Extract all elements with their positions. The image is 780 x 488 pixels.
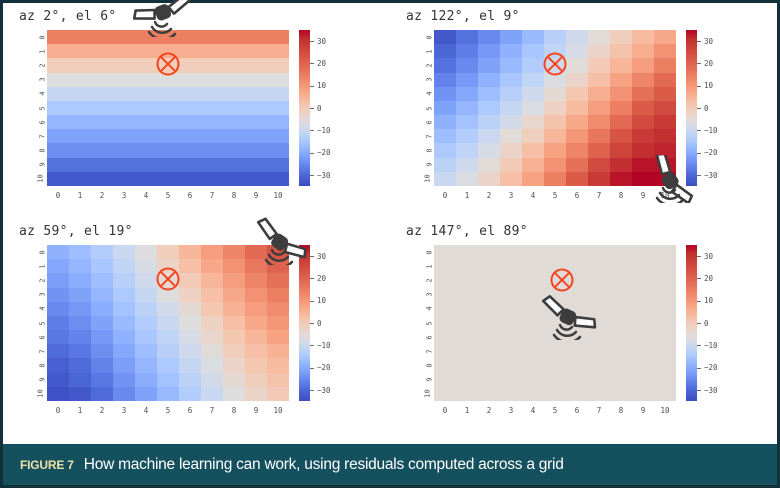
heatmap-cell (91, 30, 113, 44)
heatmap-cell (47, 143, 69, 157)
heatmap-cell (91, 373, 113, 387)
x-tick-label: 2 (478, 404, 500, 417)
y-tick-label: 10 (31, 387, 45, 401)
heatmap-cell (434, 316, 456, 330)
heatmap-cell (245, 344, 267, 358)
x-tick-label: 0 (47, 189, 69, 202)
heatmap-cell (654, 44, 676, 58)
y-axis-ticks: 012345678910 (31, 245, 45, 401)
panel-title: az 147°, el 89° (406, 224, 528, 239)
heatmap-cell (91, 259, 113, 273)
heatmap-cell (500, 373, 522, 387)
heatmap-cell (47, 58, 69, 72)
heatmap-cell (566, 87, 588, 101)
heatmap-cell (223, 101, 245, 115)
heatmap-cell (179, 302, 201, 316)
y-tick-label: 5 (418, 101, 432, 115)
heatmap-cell (179, 44, 201, 58)
heatmap-cell (500, 58, 522, 72)
heatmap-cell (478, 73, 500, 87)
heatmap-cell (179, 245, 201, 259)
x-tick-label: 8 (223, 189, 245, 202)
x-tick-label: 10 (654, 189, 676, 202)
heatmap-cell (434, 387, 456, 401)
heatmap-cell (522, 358, 544, 372)
heatmap-cell (47, 273, 69, 287)
heatmap-cell (69, 115, 91, 129)
x-tick-label: 4 (522, 404, 544, 417)
heatmap-cell (201, 101, 223, 115)
x-tick-label: 6 (566, 189, 588, 202)
heatmap-cell (69, 30, 91, 44)
heatmap-cell (157, 129, 179, 143)
y-tick-label: 7 (418, 129, 432, 143)
heatmap-cell (245, 129, 267, 143)
heatmap-cell (654, 58, 676, 72)
x-axis-ticks: 012345678910 (434, 189, 676, 202)
heatmap-cell (632, 101, 654, 115)
y-tick-label: 5 (31, 316, 45, 330)
heatmap-cell (223, 259, 245, 273)
heatmap-cell (47, 288, 69, 302)
heatmap-cell (478, 373, 500, 387)
heatmap-cell (201, 273, 223, 287)
heatmap-cell (588, 316, 610, 330)
heatmap-cell (478, 245, 500, 259)
heatmap-cell (113, 143, 135, 157)
heatmap-cell (157, 87, 179, 101)
heatmap-cell (478, 259, 500, 273)
heatmap-cell (544, 288, 566, 302)
heatmap-cell (654, 143, 676, 157)
heatmap-cell (91, 245, 113, 259)
heatmap-cell (91, 101, 113, 115)
x-tick-label: 8 (223, 404, 245, 417)
y-tick-label: 1 (418, 44, 432, 58)
heatmap-cell (69, 373, 91, 387)
heatmap-cell (135, 245, 157, 259)
y-tick-label: 8 (31, 144, 45, 158)
heatmap-cell (522, 73, 544, 87)
x-tick-label: 6 (179, 404, 201, 417)
heatmap-cell (157, 30, 179, 44)
heatmap-cell (588, 44, 610, 58)
heatmap-cell (610, 172, 632, 186)
heatmap-cell (223, 58, 245, 72)
heatmap-cell (179, 387, 201, 401)
heatmap-cell (588, 129, 610, 143)
heatmap-cell (566, 115, 588, 129)
x-tick-label: 1 (69, 189, 91, 202)
heatmap-cell (157, 358, 179, 372)
heatmap-cell (223, 344, 245, 358)
heatmap-cell (544, 30, 566, 44)
heatmap-cell (267, 302, 289, 316)
y-tick-label: 4 (31, 302, 45, 316)
heatmap-cell (500, 129, 522, 143)
heatmap-cell (69, 44, 91, 58)
heatmap-cell (544, 87, 566, 101)
heatmap-cell (267, 330, 289, 344)
heatmap-cell (434, 87, 456, 101)
heatmap-cell (245, 358, 267, 372)
heatmap-cell (267, 30, 289, 44)
x-tick-label: 6 (566, 404, 588, 417)
heatmap-cell (245, 316, 267, 330)
heatmap-cell (47, 115, 69, 129)
heatmap-cell (522, 344, 544, 358)
heatmap-cell (566, 172, 588, 186)
heatmap-cell (478, 129, 500, 143)
heatmap-cell (566, 288, 588, 302)
heatmap-cell (179, 344, 201, 358)
heatmap-cell (267, 373, 289, 387)
colorbar-tick: 10 (310, 301, 326, 302)
heatmap-cell (654, 316, 676, 330)
heatmap-cell (478, 387, 500, 401)
heatmap-cell (201, 387, 223, 401)
y-tick-label: 0 (418, 245, 432, 259)
heatmap-cell (456, 358, 478, 372)
heatmap-cell (522, 387, 544, 401)
heatmap-cell (588, 115, 610, 129)
heatmap-cell (456, 273, 478, 287)
heatmap-cell (610, 58, 632, 72)
heatmap-cells (434, 245, 676, 401)
heatmap-cell (91, 143, 113, 157)
heatmap-cell (456, 158, 478, 172)
heatmap-cell (113, 115, 135, 129)
heatmap-cell (179, 87, 201, 101)
x-tick-label: 1 (69, 404, 91, 417)
colorbar: 3020100−10−20−30 (686, 245, 746, 401)
heatmap-cell (544, 172, 566, 186)
heatmap-cell (201, 302, 223, 316)
heatmap-cell (566, 358, 588, 372)
x-tick-label: 5 (544, 404, 566, 417)
heatmap-cell (632, 87, 654, 101)
heatmap-cell (135, 58, 157, 72)
heatmap-cell (522, 245, 544, 259)
colorbar-tick: −30 (697, 175, 718, 176)
y-tick-label: 6 (31, 115, 45, 129)
heatmap-cell (588, 330, 610, 344)
heatmap-cell (47, 373, 69, 387)
heatmap-cell (544, 358, 566, 372)
heatmap-cell (632, 44, 654, 58)
heatmap-cell (610, 302, 632, 316)
heatmap-cell (610, 288, 632, 302)
heatmap-cell (588, 172, 610, 186)
heatmap-cell (610, 143, 632, 157)
heatmap-cell (179, 101, 201, 115)
heatmap-cell (500, 30, 522, 44)
heatmap-cell (135, 30, 157, 44)
heatmap-cell (267, 259, 289, 273)
panel-az2-el6: az 2°, el 6° 012345678910 012345678910 3… (3, 3, 390, 218)
heatmap-cell (610, 245, 632, 259)
heatmap-cell (610, 30, 632, 44)
heatmap-cell (201, 30, 223, 44)
heatmap-cell (434, 358, 456, 372)
heatmap-cell (588, 143, 610, 157)
heatmap-cell (434, 330, 456, 344)
heatmap-cell (245, 288, 267, 302)
heatmap-cell (588, 158, 610, 172)
heatmap-cell (544, 373, 566, 387)
heatmap-cell (113, 288, 135, 302)
colorbar-ticks: 3020100−10−20−30 (310, 30, 359, 186)
heatmap-cell (500, 143, 522, 157)
colorbar-tick: 20 (697, 63, 713, 64)
panel-title: az 59°, el 19° (19, 224, 133, 239)
heatmap-cell (522, 87, 544, 101)
heatmap-cell (157, 387, 179, 401)
heatmap-cell (91, 330, 113, 344)
heatmap-cell (135, 273, 157, 287)
heatmap-cell (223, 73, 245, 87)
heatmap-cell (588, 373, 610, 387)
heatmap-cell (113, 316, 135, 330)
heatmap-cell (456, 316, 478, 330)
heatmap-cell (566, 330, 588, 344)
heatmap-cell (632, 58, 654, 72)
heatmap-cell (135, 143, 157, 157)
heatmap-cell (47, 158, 69, 172)
y-tick-label: 3 (418, 73, 432, 87)
colorbar-tick: −10 (310, 345, 331, 346)
x-tick-label: 2 (478, 189, 500, 202)
heatmap-cell (245, 387, 267, 401)
y-tick-label: 9 (418, 158, 432, 172)
heatmap-cell (610, 115, 632, 129)
y-tick-label: 0 (31, 245, 45, 259)
heatmap-cell (566, 273, 588, 287)
heatmap-cell (456, 373, 478, 387)
x-tick-label: 2 (91, 404, 113, 417)
heatmap-cell (91, 273, 113, 287)
heatmap-cell (478, 58, 500, 72)
heatmap-cell (201, 115, 223, 129)
y-tick-label: 4 (418, 302, 432, 316)
heatmap-cell (157, 172, 179, 186)
heatmap-cell (522, 143, 544, 157)
colorbar-tick: 0 (310, 323, 322, 324)
heatmap-cell (201, 316, 223, 330)
colorbar-tick: 0 (697, 108, 709, 109)
heatmap-cell (157, 73, 179, 87)
colorbar-ticks: 3020100−10−20−30 (310, 245, 359, 401)
heatmap-cells (434, 30, 676, 186)
heatmap-cell (544, 316, 566, 330)
heatmap-cell (47, 316, 69, 330)
y-tick-label: 5 (418, 316, 432, 330)
heatmap-cell (179, 259, 201, 273)
heatmap-cell (47, 30, 69, 44)
y-tick-label: 4 (418, 87, 432, 101)
heatmap-cell (135, 302, 157, 316)
heatmap-cell (566, 101, 588, 115)
heatmap-cell (566, 373, 588, 387)
heatmap-cell (566, 30, 588, 44)
heatmap-cell (632, 259, 654, 273)
heatmap-cell (179, 288, 201, 302)
heatmap-cell (500, 273, 522, 287)
heatmap-cell (632, 302, 654, 316)
heatmap-cell (267, 172, 289, 186)
heatmap-cell (610, 373, 632, 387)
heatmap-cell (544, 259, 566, 273)
heatmap-cell (610, 387, 632, 401)
heatmap-cell (69, 330, 91, 344)
heatmap-cell (478, 44, 500, 58)
heatmap-cell (245, 30, 267, 44)
x-tick-label: 7 (201, 189, 223, 202)
y-tick-label: 1 (31, 44, 45, 58)
heatmap-cell (500, 259, 522, 273)
heatmap-cell (113, 44, 135, 58)
heatmap-cell (47, 259, 69, 273)
heatmap-cell (434, 172, 456, 186)
heatmap-cell (267, 273, 289, 287)
colorbar-tick: −30 (697, 390, 718, 391)
heatmap-cell (223, 44, 245, 58)
x-tick-label: 7 (588, 404, 610, 417)
x-tick-label: 10 (267, 404, 289, 417)
heatmap-cell (91, 288, 113, 302)
figure-number-label: FIGURE 7 (20, 458, 74, 472)
heatmap-plot-area: 012345678910 012345678910 (47, 245, 289, 401)
heatmap-cell (522, 273, 544, 287)
heatmap-cell (179, 273, 201, 287)
heatmap-cell (179, 115, 201, 129)
heatmap-cell (69, 245, 91, 259)
heatmap-cell (69, 143, 91, 157)
colorbar-tick: −30 (310, 175, 331, 176)
heatmap-cell (245, 73, 267, 87)
y-tick-label: 3 (31, 73, 45, 87)
heatmap-cell (544, 158, 566, 172)
heatmap-cell (201, 245, 223, 259)
heatmap-cell (201, 259, 223, 273)
heatmap-cell (566, 387, 588, 401)
heatmap-cell (135, 330, 157, 344)
heatmap-cell (245, 330, 267, 344)
heatmap-cell (267, 44, 289, 58)
heatmap-cell (610, 344, 632, 358)
heatmap-cell (522, 316, 544, 330)
heatmap-cell (544, 44, 566, 58)
heatmap-cell (654, 373, 676, 387)
heatmap-cell (157, 101, 179, 115)
heatmap-cell (456, 44, 478, 58)
heatmap-cell (201, 44, 223, 58)
heatmap-cell (201, 358, 223, 372)
heatmap-cell (179, 143, 201, 157)
heatmap-cell (157, 245, 179, 259)
heatmap-cell (478, 358, 500, 372)
heatmap-cell (544, 387, 566, 401)
heatmap-cell (267, 387, 289, 401)
heatmap-cell (434, 259, 456, 273)
x-tick-label: 10 (654, 404, 676, 417)
heatmap-cell (434, 273, 456, 287)
heatmap-cell (91, 358, 113, 372)
y-tick-label: 1 (418, 259, 432, 273)
colorbar-tick: 20 (310, 63, 326, 64)
heatmap-cell (456, 87, 478, 101)
heatmap-cell (69, 129, 91, 143)
y-axis-ticks: 012345678910 (418, 245, 432, 401)
heatmap-cell (91, 302, 113, 316)
heatmap-cell (69, 273, 91, 287)
y-tick-label: 9 (418, 373, 432, 387)
panel-az147-el89: az 147°, el 89° 012345678910 01234567891… (390, 218, 777, 433)
heatmap-cell (588, 344, 610, 358)
heatmap-cell (610, 158, 632, 172)
colorbar-tick: −20 (310, 368, 331, 369)
y-tick-label: 2 (418, 58, 432, 72)
heatmap-cell (654, 73, 676, 87)
heatmap-cell (544, 344, 566, 358)
heatmap-cell (47, 73, 69, 87)
heatmap-cell (69, 358, 91, 372)
heatmap-cell (113, 259, 135, 273)
heatmap-cell (245, 115, 267, 129)
y-axis-ticks: 012345678910 (31, 30, 45, 186)
heatmap-cells (47, 30, 289, 186)
heatmap-cell (610, 44, 632, 58)
x-tick-label: 10 (267, 189, 289, 202)
heatmap-cell (588, 273, 610, 287)
heatmap-cell (588, 73, 610, 87)
heatmap-cell (434, 44, 456, 58)
heatmap-plot-area: 012345678910 012345678910 (434, 245, 676, 401)
heatmap-cell (135, 288, 157, 302)
heatmap-cell (588, 30, 610, 44)
heatmap-cell (434, 158, 456, 172)
x-tick-label: 2 (91, 189, 113, 202)
heatmap-cell (267, 129, 289, 143)
heatmap-cell (267, 344, 289, 358)
colorbar-ticks: 3020100−10−20−30 (697, 30, 746, 186)
heatmap-cell (223, 87, 245, 101)
x-tick-label: 0 (47, 404, 69, 417)
heatmap-cell (245, 245, 267, 259)
panel-az59-el19: az 59°, el 19° 012345678910 012345678910… (3, 218, 390, 433)
heatmap-cell (69, 259, 91, 273)
heatmap-cell (267, 143, 289, 157)
heatmap-cell (434, 143, 456, 157)
heatmap-cell (456, 172, 478, 186)
x-tick-label: 0 (434, 404, 456, 417)
heatmap-cell (47, 358, 69, 372)
heatmap-cell (245, 87, 267, 101)
colorbar-tick: −10 (697, 345, 718, 346)
y-tick-label: 10 (418, 172, 432, 186)
figure-caption-text: How machine learning can work, using res… (84, 456, 564, 474)
y-tick-label: 1 (31, 259, 45, 273)
x-axis-ticks: 012345678910 (47, 404, 289, 417)
heatmap-cell (135, 259, 157, 273)
heatmap-cell (566, 129, 588, 143)
heatmap-cell (135, 44, 157, 58)
heatmap-cell (500, 245, 522, 259)
heatmap-cell (113, 358, 135, 372)
heatmap-cell (434, 30, 456, 44)
heatmap-cell (267, 115, 289, 129)
heatmap-cell (223, 387, 245, 401)
